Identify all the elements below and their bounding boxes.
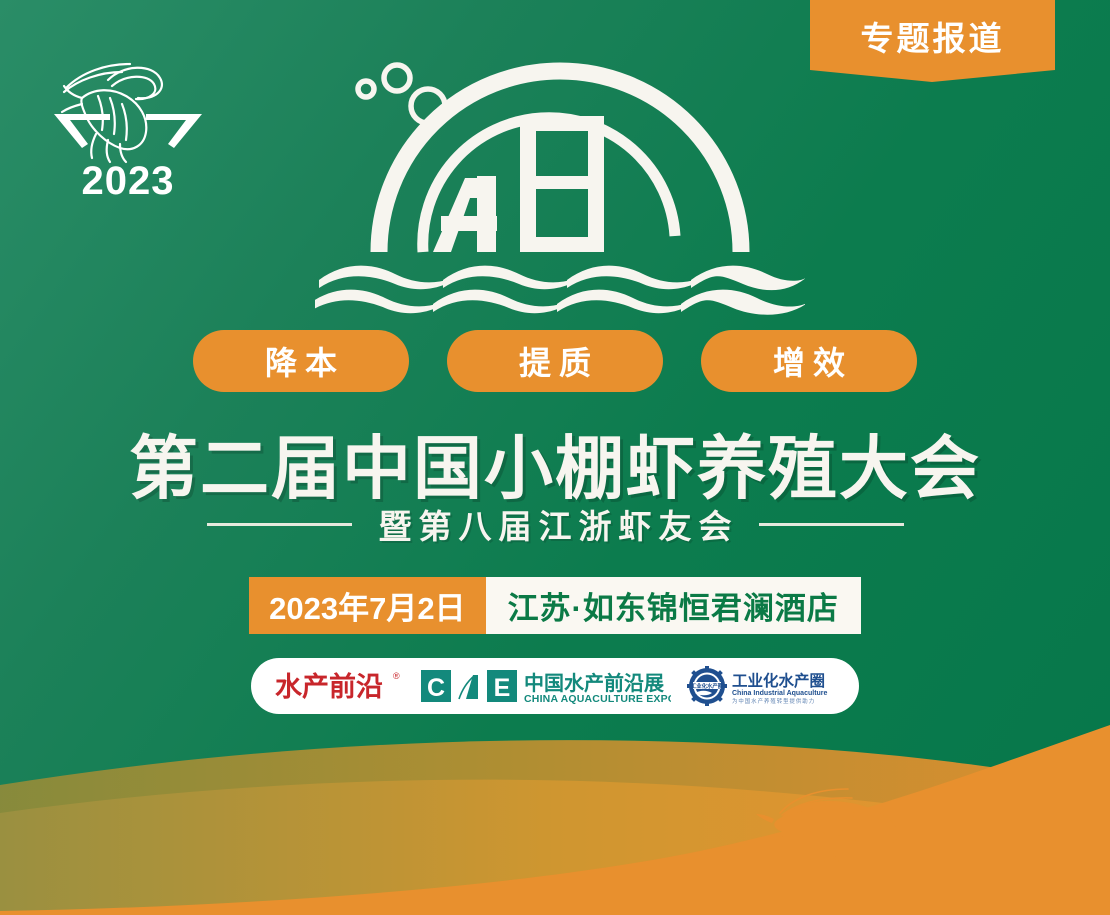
subtitle-rule-right	[759, 523, 904, 526]
sponsor-name-cn: 水产前沿	[275, 671, 383, 702]
event-venue: 江苏·如东锦恒君澜酒店	[486, 577, 861, 634]
subtitle-rule-left	[207, 523, 352, 526]
shrimp-outline-icon	[62, 64, 162, 162]
conference-banner: 专题报道	[0, 0, 1110, 915]
event-date: 2023年7月2日	[249, 577, 485, 634]
industrial-name-cn: 工业化水产圈	[732, 671, 825, 690]
svg-text:E: E	[494, 674, 511, 702]
industrial-tagline: 为中国水产养殖转型提供助力	[732, 697, 815, 705]
slogan-pill-3-label: 增效	[765, 338, 853, 384]
cae-blocks-icon: C E	[421, 670, 517, 702]
bottom-wave-decoration	[0, 725, 1110, 915]
bracket-chevrons-icon	[54, 114, 202, 148]
badge-year-value: 2023	[48, 200, 49, 201]
slogan-pill-group: 降本 提质 增效	[0, 330, 1110, 392]
slogan-pill-2-label: 提质	[511, 338, 599, 384]
feature-report-ribbon[interactable]: 专题报道	[810, 0, 1055, 82]
slogan-pill-1-label: 降本	[257, 338, 345, 384]
wave-lines-icon	[315, 266, 805, 315]
expo-name-en: CHINA AQUACULTURE EXPO 2024	[524, 693, 671, 705]
expo-name-cn: 中国水产前沿展	[524, 671, 664, 695]
arch-outer	[379, 71, 741, 252]
shrimp-silhouette-icon	[752, 783, 924, 865]
slogan-pill-3[interactable]: 增效	[701, 330, 917, 392]
sponsor-logo-china-industrial-aquaculture[interactable]: 工业化水产圈 工业化水产圈 China Industrial Aquacultu…	[687, 666, 837, 706]
subtitle-row: 暨第八届江浙虾友会	[0, 500, 1110, 548]
sponsor-logo-shuichan-qianyan[interactable]: 水产前沿 ®	[273, 666, 405, 706]
svg-text:C: C	[427, 674, 445, 702]
gear-emblem-icon: 工业化水产圈	[687, 666, 727, 706]
subtitle: 暨第八届江浙虾友会	[372, 500, 739, 548]
ribbon-label: 专题报道	[810, 12, 1055, 60]
main-title: 第二届中国小棚虾养殖大会	[0, 412, 1110, 512]
registered-mark-icon: ®	[393, 671, 400, 681]
letter-a-shape	[433, 176, 497, 252]
shrimp-year-badge: 2023 2023	[48, 52, 208, 200]
greenhouse-arch-logo-icon	[315, 58, 805, 320]
event-info-bar: 2023年7月2日 江苏·如东锦恒君澜酒店	[0, 577, 1110, 634]
sponsor-strip: 水产前沿 ® C E 中国水产前沿展	[0, 658, 1110, 714]
gear-emblem-label: 工业化水产圈	[691, 682, 724, 690]
slogan-pill-1[interactable]: 降本	[193, 330, 409, 392]
industrial-name-en: China Industrial Aquaculture	[732, 690, 828, 697]
badge-year: 2023	[82, 159, 175, 200]
slogan-pill-2[interactable]: 提质	[447, 330, 663, 392]
letter-ri-shape	[520, 116, 604, 252]
sponsor-logo-china-aquaculture-expo[interactable]: C E 中国水产前沿展 CHINA AQUACULTURE EXPO 2024	[421, 666, 671, 706]
